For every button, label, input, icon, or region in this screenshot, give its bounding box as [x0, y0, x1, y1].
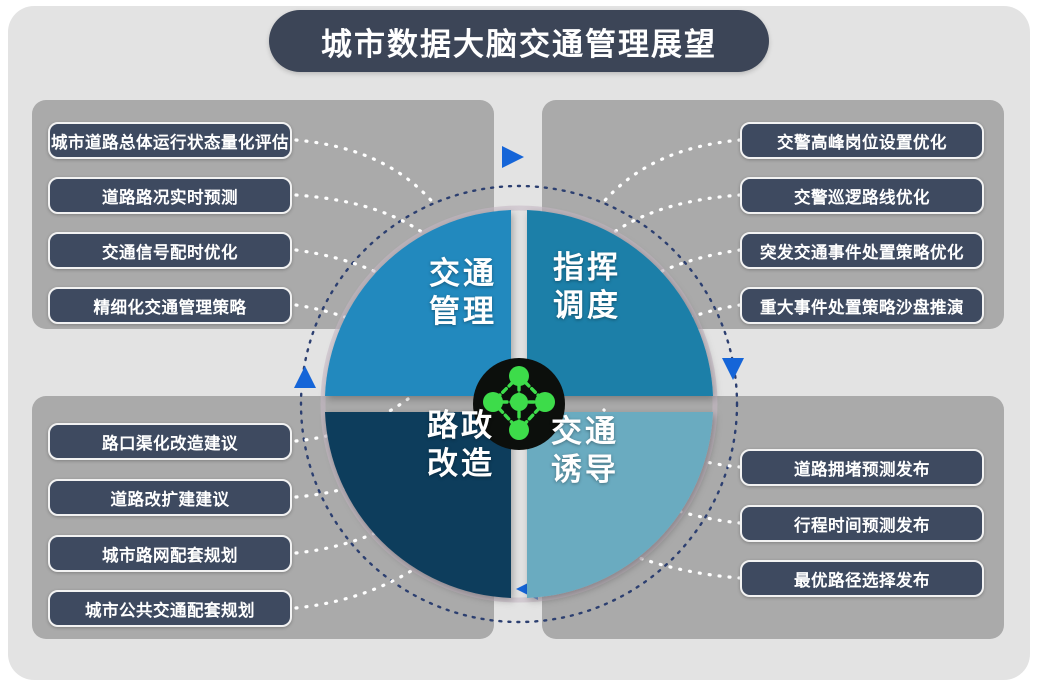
chip-tr-3[interactable]: 突发交通事件处置策略优化: [740, 232, 984, 269]
chip-label: 突发交通事件处置策略优化: [760, 239, 964, 263]
diagram-root: 交通 管理 指挥 调度 路政 改造 交通 诱导 城市道路总体运行状态量化评估 道…: [0, 0, 1038, 686]
quadrant-label-road-reconstruction: 路政 改造: [427, 408, 495, 484]
chip-bl-4[interactable]: 城市公共交通配套规划: [48, 590, 292, 627]
chip-label: 最优路径选择发布: [794, 567, 930, 591]
quadrant-label-line2: 管理: [429, 294, 497, 332]
chip-tr-1[interactable]: 交警高峰岗位设置优化: [740, 122, 984, 159]
chip-label: 精细化交通管理策略: [94, 294, 247, 318]
quadrant-label-traffic-guidance: 交通 诱导: [551, 414, 619, 490]
chip-tr-4[interactable]: 重大事件处置策略沙盘推演: [740, 287, 984, 324]
page-title-text: 城市数据大脑交通管理展望: [321, 19, 717, 64]
quadrant-label-command-dispatch: 指挥 调度: [553, 250, 621, 326]
chip-label: 路口渠化改造建议: [102, 430, 238, 454]
chip-label: 交警巡逻路线优化: [794, 184, 930, 208]
quadrant-label-traffic-management: 交通 管理: [429, 256, 497, 332]
chip-bl-2[interactable]: 道路改扩建建议: [48, 479, 292, 516]
chip-label: 道路路况实时预测: [102, 184, 238, 208]
chip-label: 城市路网配套规划: [102, 542, 238, 566]
chip-tl-1[interactable]: 城市道路总体运行状态量化评估: [48, 122, 292, 159]
chip-br-3[interactable]: 最优路径选择发布: [740, 560, 984, 597]
page-title: 城市数据大脑交通管理展望: [269, 10, 769, 72]
chip-label: 城市公共交通配套规划: [85, 597, 255, 621]
chip-label: 交警高峰岗位设置优化: [777, 129, 947, 153]
chip-tr-2[interactable]: 交警巡逻路线优化: [740, 177, 984, 214]
chip-label: 城市道路总体运行状态量化评估: [51, 129, 289, 153]
chip-bl-3[interactable]: 城市路网配套规划: [48, 535, 292, 572]
chip-tl-2[interactable]: 道路路况实时预测: [48, 177, 292, 214]
quadrant-label-line2: 改造: [427, 446, 495, 484]
quadrant-label-line1: 指挥: [553, 250, 621, 288]
chip-bl-1[interactable]: 路口渠化改造建议: [48, 423, 292, 460]
chip-br-2[interactable]: 行程时间预测发布: [740, 505, 984, 542]
quadrant-label-line1: 路政: [427, 408, 495, 446]
quadrant-label-line2: 诱导: [551, 452, 619, 490]
chip-label: 重大事件处置策略沙盘推演: [760, 294, 964, 318]
chip-label: 道路拥堵预测发布: [794, 456, 930, 480]
quadrant-label-line1: 交通: [551, 414, 619, 452]
chip-tl-3[interactable]: 交通信号配时优化: [48, 232, 292, 269]
chip-label: 行程时间预测发布: [794, 512, 930, 536]
chip-tl-4[interactable]: 精细化交通管理策略: [48, 287, 292, 324]
chip-label: 交通信号配时优化: [102, 239, 238, 263]
quadrant-label-line2: 调度: [553, 288, 621, 326]
chip-label: 道路改扩建建议: [111, 486, 230, 510]
central-wheel: 交通 管理 指挥 调度 路政 改造 交通 诱导: [301, 186, 737, 622]
quadrant-label-line1: 交通: [429, 256, 497, 294]
chip-br-1[interactable]: 道路拥堵预测发布: [740, 449, 984, 486]
